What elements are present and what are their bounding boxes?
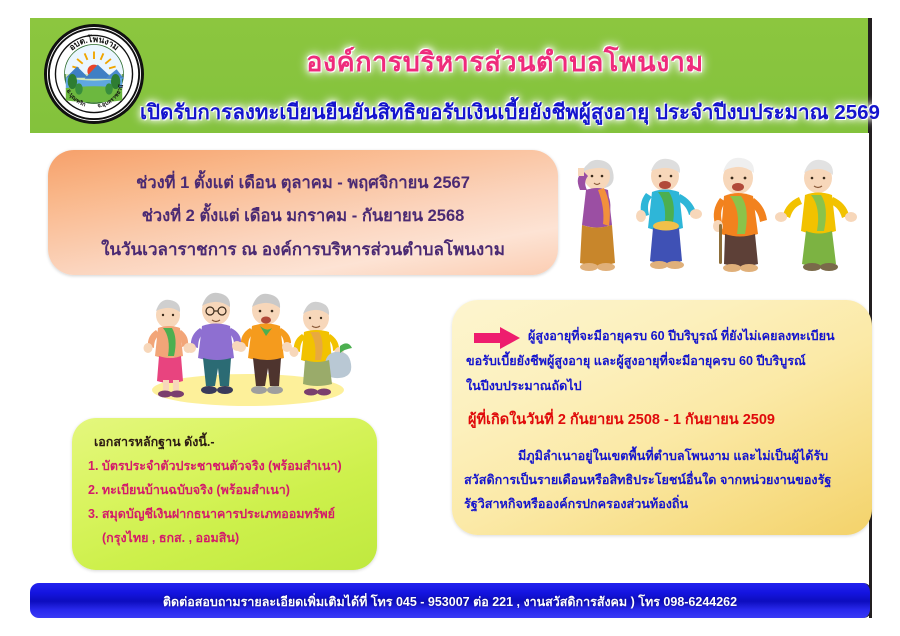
header-banner: อบต.โพนงาม อ.บุณฑริก จ.อุบลราชธานี องค์ก…	[30, 18, 870, 133]
document-item-1: 1. บัตรประจำตัวประชาชนตัวจริง (พร้อมสำเน…	[88, 456, 342, 476]
eligibility-line-2: ขอรับเบี้ยยังชีพผู้สูงอายุ และผู้สูงอายุ…	[466, 351, 806, 371]
period-line-3: ในวันเวลาราชการ ณ องค์การบริหารส่วนตำบลโ…	[48, 236, 558, 263]
elderly-group-illustration-left	[130, 282, 370, 410]
contact-info-text: ติดต่อสอบถามรายละเอียดเพิ่มเติมได้ที่ โท…	[30, 592, 870, 612]
birth-date-range: ผู้ที่เกิดในวันที่ 2 กันยายน 2508 - 1 กั…	[468, 408, 775, 431]
eligibility-line-4: มีภูมิลำเนาอยู่ในเขตพื้นที่ตำบลโพนงาม แล…	[518, 446, 828, 466]
contact-footer-bar: ติดต่อสอบถามรายละเอียดเพิ่มเติมได้ที่ โท…	[30, 583, 872, 618]
eligibility-line-5: สวัสดิการเป็นรายเดือนหรือสิทธิประโยชน์อื…	[464, 470, 831, 490]
eligibility-criteria-box: ผู้สูงอายุที่จะมีอายุครบ 60 ปีบริบูรณ์ ท…	[452, 300, 872, 535]
poster-canvas: อบต.โพนงาม อ.บุณฑริก จ.อุบลราชธานี องค์ก…	[0, 0, 900, 636]
eligibility-line-1: ผู้สูงอายุที่จะมีอายุครบ 60 ปีบริบูรณ์ ท…	[528, 326, 835, 346]
eligibility-line-3: ในปีงบประมาณถัดไป	[466, 376, 582, 396]
right-arrow-icon	[474, 327, 520, 349]
period-line-1: ช่วงที่ 1 ตั้งแต่ เดือน ตุลาคม - พฤศจิกา…	[48, 170, 558, 196]
document-item-2: 2. ทะเบียนบ้านฉบับจริง (พร้อมสำเนา)	[88, 480, 290, 500]
period-line-2: ช่วงที่ 2 ตั้งแต่ เดือน มกราคม - กันยายน…	[48, 203, 558, 229]
eligibility-line-6: รัฐวิสาหกิจหรือองค์กรปกครองส่วนท้องถิ่น	[464, 494, 688, 514]
page-subtitle: เปิดรับการลงทะเบียนยืนยันสิทธิขอรับเงินเ…	[130, 96, 890, 129]
required-documents-box: เอกสารหลักฐาน ดังนี้.- 1. บัตรประจำตัวปร…	[72, 418, 377, 570]
page-title: องค์การบริหารส่วนตำบลโพนงาม	[150, 40, 860, 83]
documents-title: เอกสารหลักฐาน ดังนี้.-	[94, 432, 215, 452]
registration-period-box: ช่วงที่ 1 ตั้งแต่ เดือน ตุลาคม - พฤศจิกา…	[48, 150, 558, 275]
document-item-3: 3. สมุดบัญชีเงินฝากธนาคารประเภทออมทรัพย์	[88, 504, 335, 524]
elderly-people-illustration-top	[560, 138, 880, 283]
document-item-3-banks: (กรุงไทย , ธกส. , ออมสิน)	[102, 528, 239, 548]
organization-seal-icon: อบต.โพนงาม อ.บุณฑริก จ.อุบลราชธานี	[44, 24, 144, 124]
